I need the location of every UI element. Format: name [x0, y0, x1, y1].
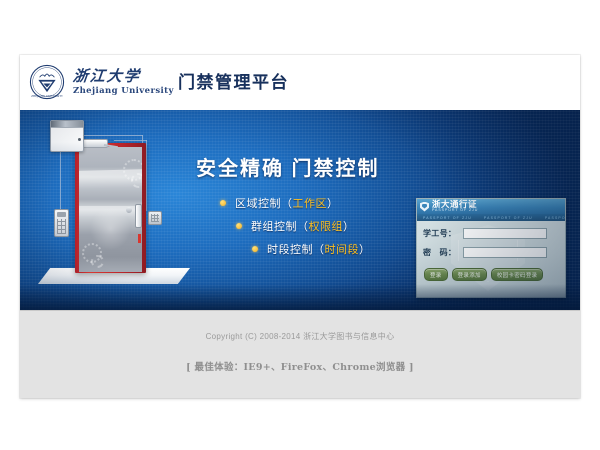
login-button-row: 登录 登录添加 校园卡密码登录	[424, 268, 565, 281]
keypad-keys	[57, 219, 66, 234]
wire-segment	[146, 140, 147, 211]
bullet-dot-icon	[252, 246, 258, 252]
keypad-reader	[54, 209, 69, 237]
feature-text-highlight: 权限组	[309, 218, 344, 234]
svg-text:ZHEJIANG UNIVERSITY: ZHEJIANG UNIVERSITY	[31, 95, 63, 98]
username-row: 学工号：	[423, 226, 565, 240]
password-label: 密 码：	[423, 247, 463, 258]
password-row: 密 码：	[423, 245, 565, 259]
feature-text-prefix: 时段控制（	[267, 241, 325, 257]
card-reader	[148, 211, 162, 225]
feature-item-group-control: 群组控制（ 权限组 ）	[210, 218, 430, 234]
wire-segment	[60, 150, 61, 209]
hero-banner: 安全精确 门禁控制 区域控制（ 工作区 ） 群组控制（ 权限组 ） 时段控制（ …	[20, 110, 580, 310]
login-panel-band: PASSPORT OF ZJU PASSPORT OF ZJU PASSPORT…	[417, 214, 565, 221]
campus-card-login-button[interactable]: 校园卡密码登录	[491, 268, 544, 281]
site-footer: Copyright (C) 2008-2014 浙江大学图书与信息中心 [ 最佳…	[20, 310, 580, 398]
zju-seal-icon: ZHEJIANG UNIVERSITY	[29, 64, 65, 100]
username-input[interactable]	[463, 228, 547, 239]
door-strike-plate	[138, 234, 141, 243]
copyright-text: Copyright (C) 2008-2014 浙江大学图书与信息中心	[206, 331, 395, 342]
gear-icon	[131, 173, 142, 188]
password-input[interactable]	[463, 247, 547, 258]
banner-feature-list: 区域控制（ 工作区 ） 群组控制（ 权限组 ） 时段控制（ 时间段 ）	[210, 195, 430, 264]
feature-text-prefix: 群组控制（	[251, 218, 309, 234]
banner-slogan: 安全精确 门禁控制	[196, 152, 411, 181]
access-control-illustration	[34, 116, 209, 306]
bullet-dot-icon	[220, 200, 226, 206]
login-panel-header: 浙大通行证 PASSPORT OF ZJU	[417, 199, 565, 214]
university-logo[interactable]: ZHEJIANG UNIVERSITY 浙江大学 Zhejiang Univer…	[29, 64, 189, 100]
wire-segment	[114, 135, 143, 136]
feature-item-time-control: 时段控制（ 时间段 ）	[210, 241, 430, 257]
page-title: 门禁管理平台	[178, 68, 289, 93]
access-controller-box	[50, 120, 84, 152]
controller-box-top	[51, 121, 83, 128]
band-text: PASSPORT OF ZJU	[417, 216, 478, 220]
login-panel: 浙大通行证 PASSPORT OF ZJU PASSPORT OF ZJU PA…	[416, 198, 566, 298]
feature-text-suffix: ）	[327, 195, 339, 211]
door-handle	[135, 204, 142, 228]
gear-icon	[91, 255, 104, 268]
banner-bottom-fade	[20, 284, 580, 310]
card-reader-keys	[151, 214, 159, 222]
band-text: PASSPORT OF ZJU	[478, 216, 539, 220]
browser-support-note: [ 最佳体验：IE9+、FireFox、Chrome浏览器 ]	[186, 359, 414, 373]
logo-text-cn: 浙江大学	[72, 65, 142, 86]
controller-led	[78, 138, 81, 141]
feature-item-area-control: 区域控制（ 工作区 ）	[210, 195, 430, 211]
door-lock-indicator	[126, 207, 132, 213]
username-label: 学工号：	[423, 228, 463, 239]
door-glass-panel	[79, 147, 142, 272]
bullet-dot-icon	[236, 223, 242, 229]
login-panel-title-cn: 浙大通行证	[432, 200, 478, 209]
page-card: ZHEJIANG UNIVERSITY 浙江大学 Zhejiang Univer…	[20, 55, 580, 398]
feature-text-suffix: ）	[343, 218, 355, 234]
login-add-button[interactable]: 登录添加	[452, 268, 487, 281]
feature-text-prefix: 区域控制（	[235, 195, 293, 211]
logo-text-en: Zhejiang University	[73, 86, 174, 96]
keypad-screen	[57, 212, 66, 217]
shield-icon	[420, 202, 429, 212]
login-panel-title-en: PASSPORT OF ZJU	[432, 209, 478, 213]
band-text: PASSPORT OF ZJU	[539, 216, 565, 220]
feature-text-highlight: 时间段	[325, 241, 360, 257]
wire-segment	[82, 135, 114, 136]
feature-text-highlight: 工作区	[293, 195, 328, 211]
site-header: ZHEJIANG UNIVERSITY 浙江大学 Zhejiang Univer…	[20, 55, 580, 111]
feature-text-suffix: ）	[359, 241, 371, 257]
login-button[interactable]: 登录	[424, 268, 448, 281]
